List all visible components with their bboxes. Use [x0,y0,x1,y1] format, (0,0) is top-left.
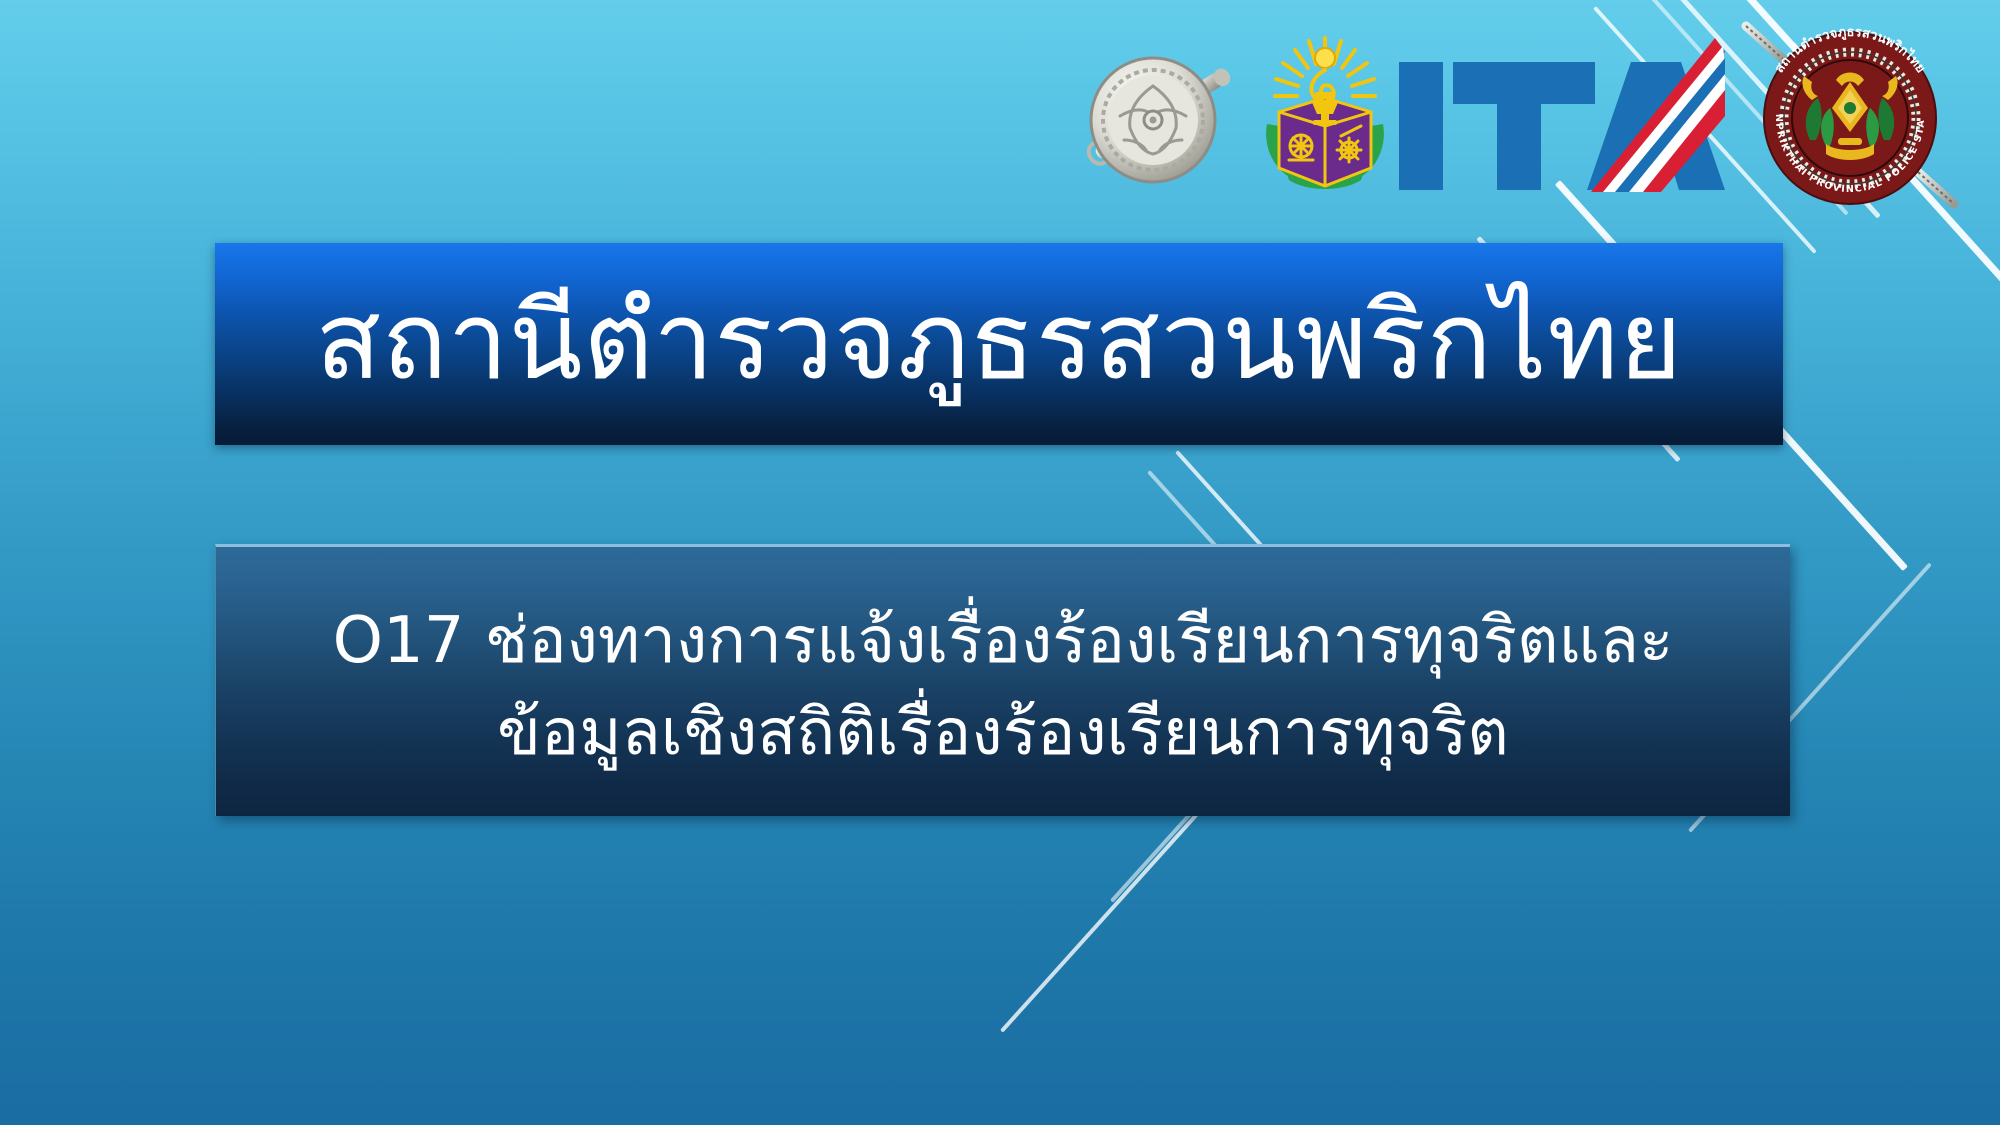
subtitle-line-2: ข้อมูลเชิงสถิติเรื่องร้องเรียนการทุจริต [497,692,1509,775]
ceremonial-baton-icon [1058,28,1248,208]
logo-strip: สถานีตำรวจภูธรสวนพริกไทย SUANPRIKTHAI PR… [1040,10,1990,210]
page-title: สถานีตำรวจภูธรสวนพริกไทย [315,288,1682,396]
ita-logo [1395,30,1725,195]
title-banner: สถานีตำรวจภูธรสวนพริกไทย [215,243,1783,445]
suanprikthai-police-seal-icon: สถานีตำรวจภูธรสวนพริกไทย SUANPRIKTHAI PR… [1740,20,1960,210]
presentation-slide: สถานีตำรวจภูธรสวนพริกไทย SUANPRIKTHAI PR… [0,0,2000,1125]
subtitle-line-1: O17 ช่องทางการแจ้งเรื่องร้องเรียนการทุจร… [333,600,1674,683]
subtitle-panel: O17 ช่องทางการแจ้งเรื่องร้องเรียนการทุจร… [215,544,1790,816]
royal-thai-police-crest-icon [1245,28,1405,198]
